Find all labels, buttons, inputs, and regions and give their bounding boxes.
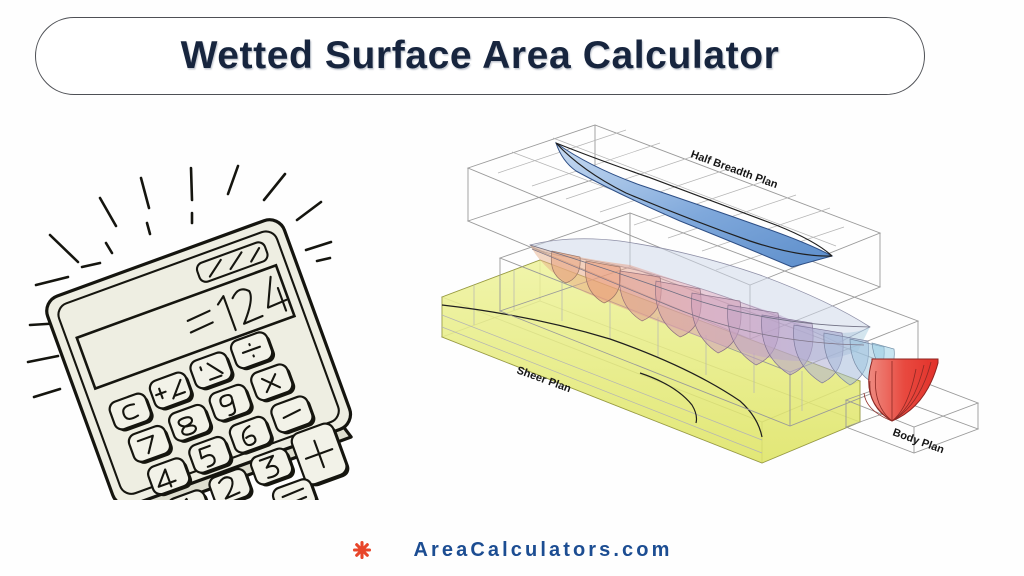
footer-brand-text: AreaCalculators.com xyxy=(414,539,673,562)
footer: AreaCalculators.com xyxy=(0,530,1024,570)
body-plan-label: Body Plan xyxy=(891,427,946,457)
page-title: Wetted Surface Area Calculator xyxy=(181,34,780,78)
title-pill-container: Wetted Surface Area Calculator xyxy=(35,17,925,95)
page-root: Wetted Surface Area Calculator xyxy=(0,0,1024,576)
calculator-illustration xyxy=(20,150,420,500)
body-plan-section xyxy=(869,359,938,421)
lines-plan-illustration: Half Breadth Plan xyxy=(440,115,1010,465)
calculator-device xyxy=(36,210,380,500)
half-breadth-plan-label: Half Breadth Plan xyxy=(689,149,780,192)
asterisk-star-icon xyxy=(352,540,372,560)
